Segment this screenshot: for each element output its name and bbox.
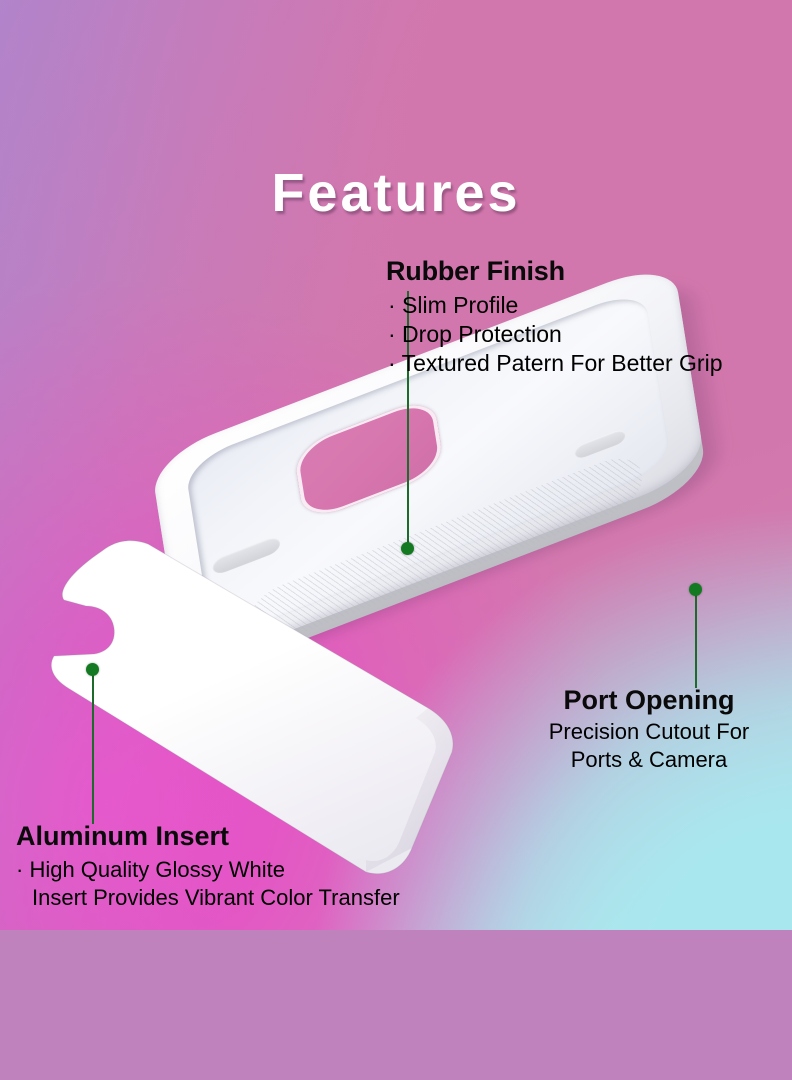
infographic-stage: Features Rubber Finish · Slim Profile · … [0, 0, 792, 1080]
callout-heading-port-opening: Port Opening [506, 684, 792, 717]
callout-heading-rubber-finish: Rubber Finish [386, 255, 786, 287]
leader-line-aluminum-insert [92, 674, 94, 824]
bottom-filler-band [0, 930, 792, 1080]
callout-aluminum-insert: Aluminum Insert · High Quality Glossy Wh… [16, 820, 536, 912]
bullet-textured-pattern: · Textured Patern For Better Grip [386, 349, 786, 378]
callout-bullets-rubber-finish: · Slim Profile · Drop Protection · Textu… [386, 291, 786, 378]
callout-dot-rubber-finish [401, 542, 414, 555]
callout-subline-port-opening-2: Ports & Camera [506, 746, 792, 773]
callout-port-opening: Port Opening Precision Cutout For Ports … [506, 684, 792, 773]
callout-rubber-finish: Rubber Finish · Slim Profile · Drop Prot… [386, 255, 786, 378]
leader-line-port-opening [695, 592, 697, 688]
product-infographic-canvas: Features Rubber Finish · Slim Profile · … [0, 0, 792, 930]
callout-bullets-aluminum-insert: · High Quality Glossy White Insert Provi… [16, 856, 536, 912]
callout-dot-port-opening [689, 583, 702, 596]
bullet-drop-protection: · Drop Protection [386, 320, 786, 349]
callout-heading-aluminum-insert: Aluminum Insert [16, 820, 536, 853]
bullet-glossy-white-line1: · High Quality Glossy White [16, 856, 536, 884]
page-title: Features [0, 166, 792, 220]
callout-dot-aluminum-insert [86, 663, 99, 676]
bullet-glossy-white-line2: Insert Provides Vibrant Color Transfer [16, 884, 536, 912]
bullet-slim-profile: · Slim Profile [386, 291, 786, 320]
callout-subline-port-opening-1: Precision Cutout For [506, 718, 792, 745]
